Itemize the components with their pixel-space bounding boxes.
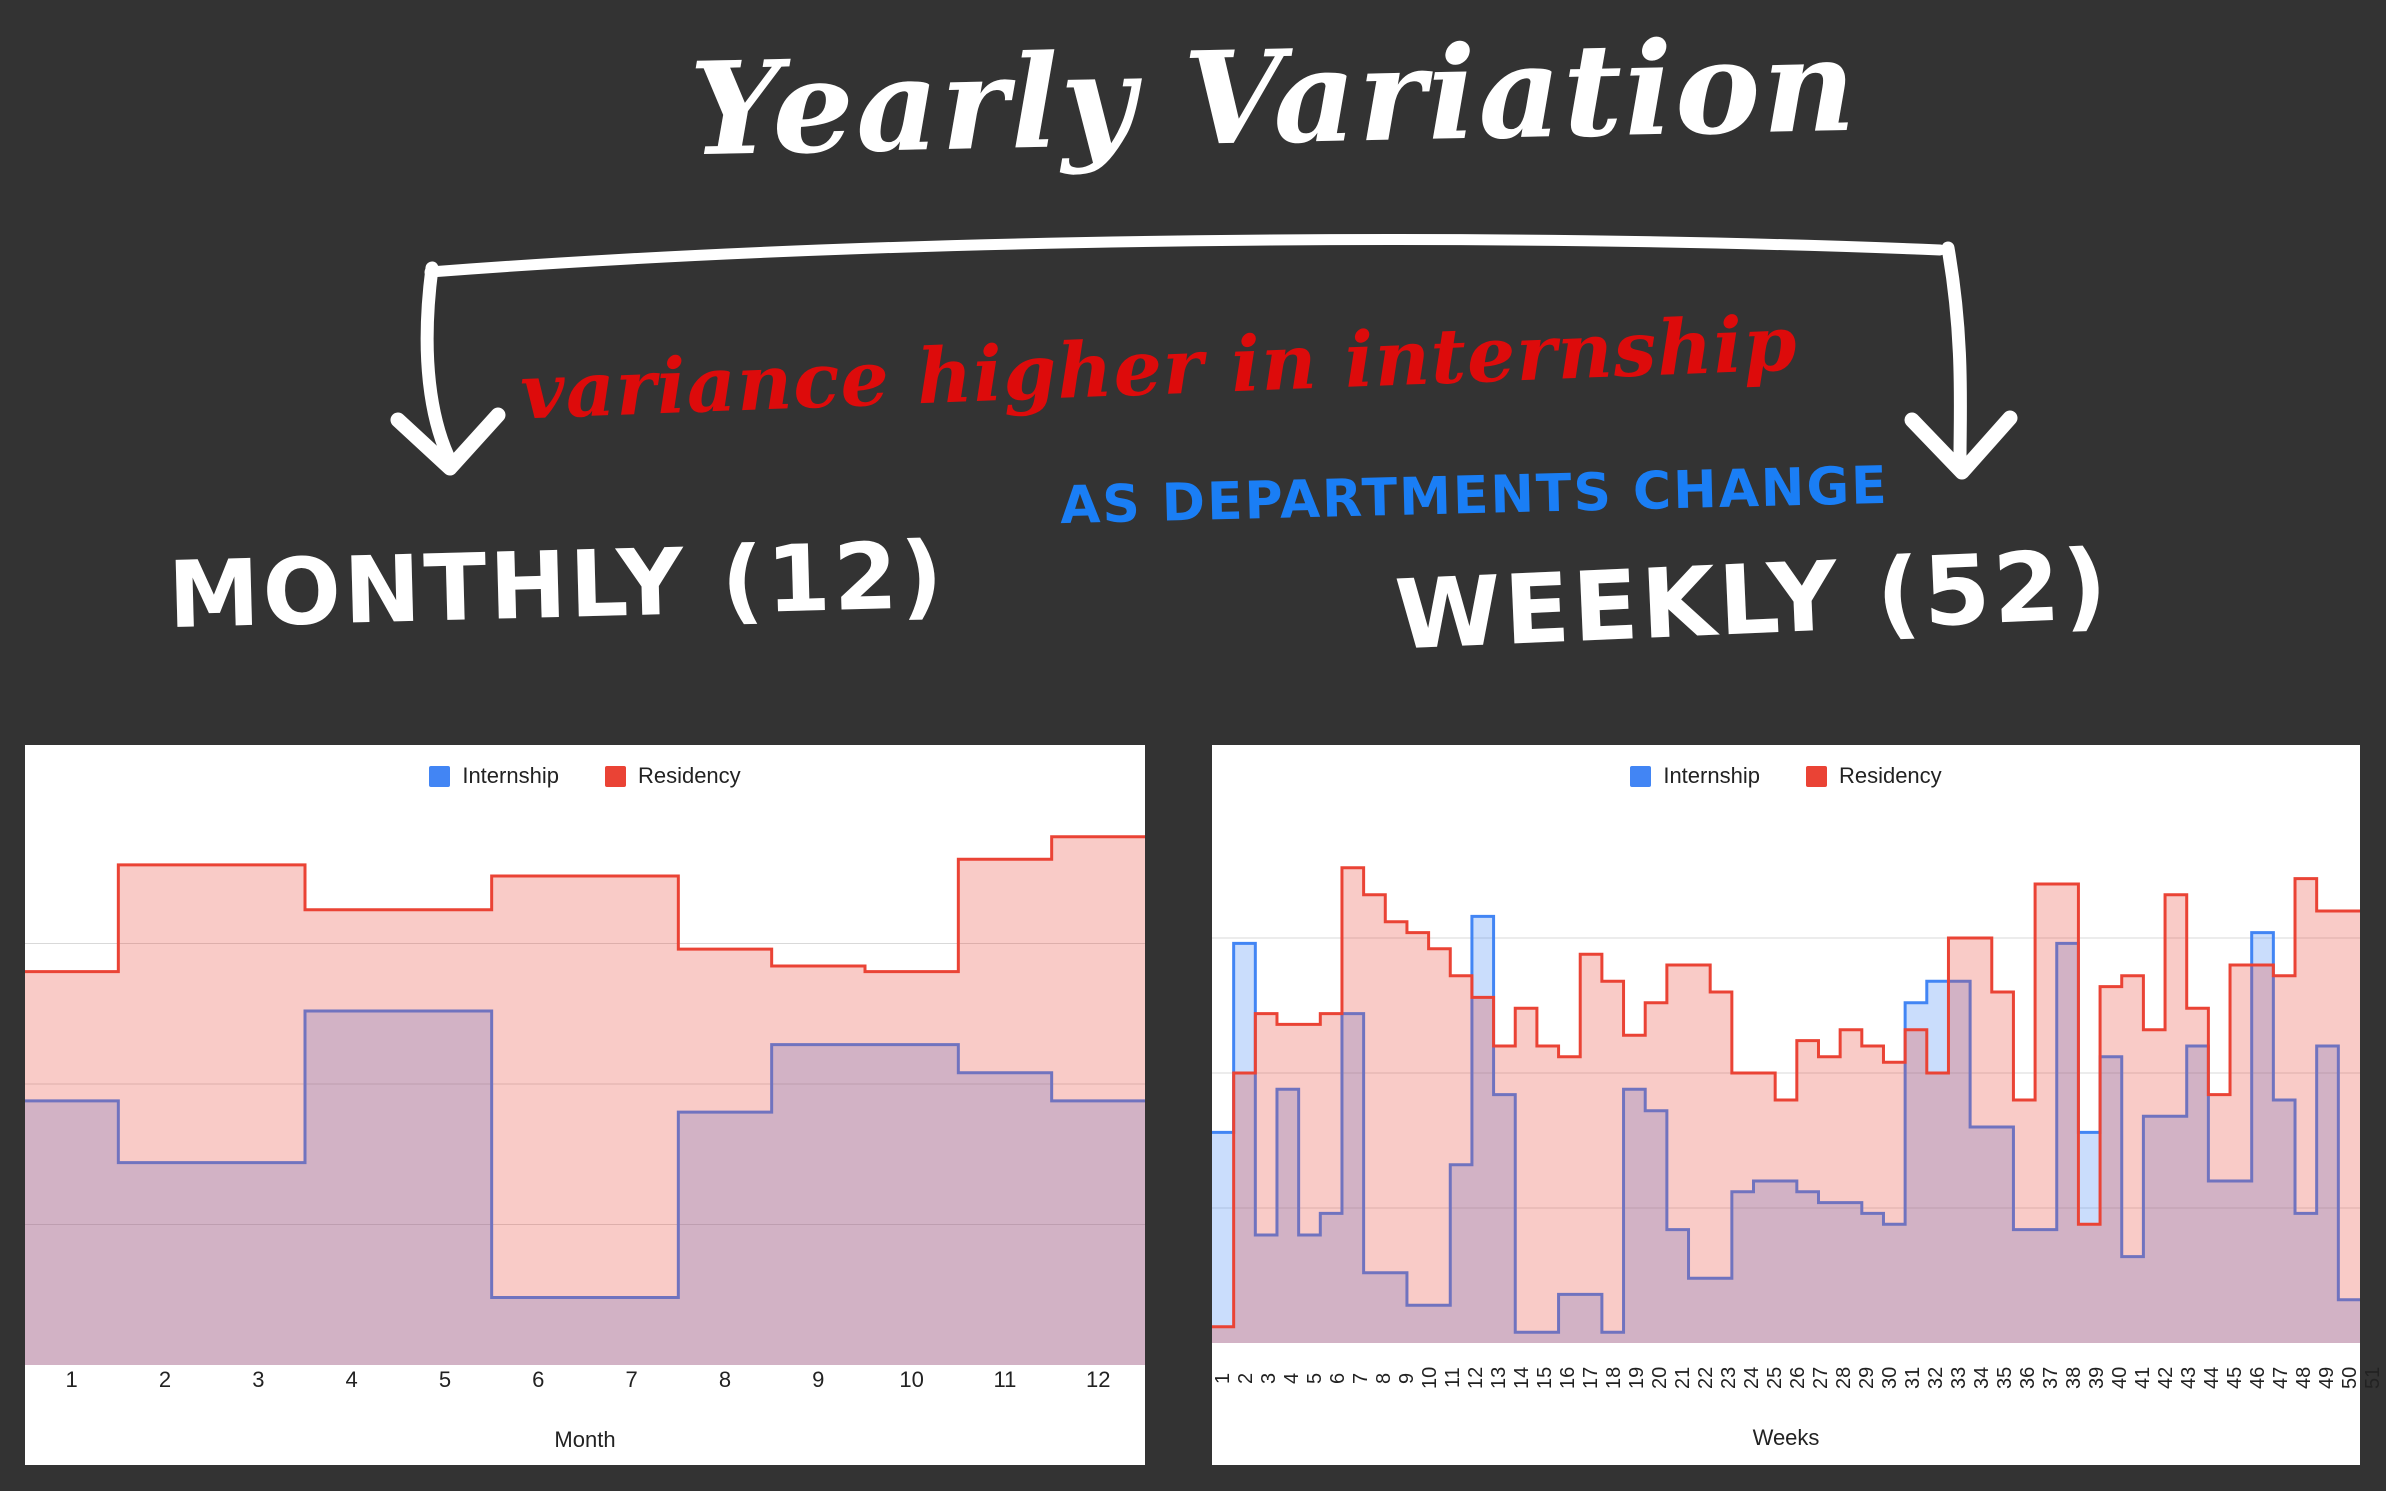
legend-swatch-internship — [429, 766, 450, 787]
axis-tick: 39 — [2086, 1345, 2109, 1411]
axis-tick: 10 — [1419, 1345, 1442, 1411]
axis-tick: 11 — [1442, 1345, 1465, 1411]
weekly-plot-area[interactable] — [1212, 803, 2360, 1343]
annotation-variance-note: variance higher in internship — [519, 306, 1799, 431]
axis-tick: 36 — [2017, 1345, 2040, 1411]
axis-tick: 9 — [772, 1367, 865, 1407]
axis-tick: 28 — [1833, 1345, 1856, 1411]
axis-tick: 21 — [1672, 1345, 1695, 1411]
caption-weekly: WEEKLY (52) — [1393, 536, 2111, 663]
axis-tick: 38 — [2063, 1345, 2086, 1411]
axis-tick: 45 — [2224, 1345, 2247, 1411]
legend-swatch-residency — [605, 766, 626, 787]
axis-tick: 10 — [865, 1367, 958, 1407]
legend-swatch-internship — [1630, 766, 1651, 787]
axis-tick: 46 — [2247, 1345, 2270, 1411]
legend-label-residency: Residency — [638, 763, 741, 789]
board-title: Yearly Variation — [689, 22, 1859, 174]
axis-tick: 7 — [1350, 1345, 1373, 1411]
axis-tick: 16 — [1557, 1345, 1580, 1411]
axis-tick: 48 — [2293, 1345, 2316, 1411]
axis-tick: 4 — [1281, 1345, 1304, 1411]
legend-swatch-residency — [1806, 766, 1827, 787]
axis-tick: 5 — [1304, 1345, 1327, 1411]
axis-tick: 51 — [2362, 1345, 2385, 1411]
axis-tick: 27 — [1810, 1345, 1833, 1411]
axis-tick: 47 — [2270, 1345, 2293, 1411]
axis-tick: 4 — [305, 1367, 398, 1407]
axis-tick: 8 — [1373, 1345, 1396, 1411]
axis-tick: 13 — [1488, 1345, 1511, 1411]
weekly-x-axis-title: Weeks — [1212, 1425, 2360, 1451]
axis-tick: 18 — [1603, 1345, 1626, 1411]
axis-tick: 1 — [1212, 1345, 1235, 1411]
axis-tick: 29 — [1856, 1345, 1879, 1411]
axis-tick: 49 — [2316, 1345, 2339, 1411]
legend-item-residency[interactable]: Residency — [605, 763, 741, 789]
axis-tick: 25 — [1764, 1345, 1787, 1411]
monthly-x-axis-title: Month — [25, 1427, 1145, 1453]
axis-tick: 30 — [1879, 1345, 1902, 1411]
legend-item-residency[interactable]: Residency — [1806, 763, 1942, 789]
axis-tick: 34 — [1971, 1345, 1994, 1411]
caption-monthly: MONTHLY (12) — [167, 530, 947, 642]
axis-tick: 50 — [2339, 1345, 2362, 1411]
monthly-plot-area[interactable] — [25, 803, 1145, 1365]
monthly-chart-panel: Internship Residency 123456789101112 Mon… — [25, 745, 1145, 1465]
legend-item-internship[interactable]: Internship — [1630, 763, 1760, 789]
axis-tick: 12 — [1465, 1345, 1488, 1411]
legend-label-residency: Residency — [1839, 763, 1942, 789]
axis-tick: 23 — [1718, 1345, 1741, 1411]
axis-tick: 35 — [1994, 1345, 2017, 1411]
monthly-legend: Internship Residency — [25, 763, 1145, 789]
axis-tick: 2 — [118, 1367, 211, 1407]
axis-tick: 22 — [1695, 1345, 1718, 1411]
axis-tick: 6 — [492, 1367, 585, 1407]
axis-tick: 19 — [1626, 1345, 1649, 1411]
weekly-chart-panel: Internship Residency 1234567891011121314… — [1212, 745, 2360, 1465]
axis-tick: 42 — [2155, 1345, 2178, 1411]
legend-label-internship: Internship — [462, 763, 559, 789]
axis-tick: 41 — [2132, 1345, 2155, 1411]
axis-tick: 32 — [1925, 1345, 1948, 1411]
axis-tick: 7 — [585, 1367, 678, 1407]
axis-tick: 44 — [2201, 1345, 2224, 1411]
axis-tick: 31 — [1902, 1345, 1925, 1411]
axis-tick: 11 — [958, 1367, 1051, 1407]
legend-item-internship[interactable]: Internship — [429, 763, 559, 789]
axis-tick: 3 — [212, 1367, 305, 1407]
axis-tick: 6 — [1327, 1345, 1350, 1411]
weekly-legend: Internship Residency — [1212, 763, 2360, 789]
axis-tick: 33 — [1948, 1345, 1971, 1411]
axis-tick: 20 — [1649, 1345, 1672, 1411]
monthly-x-axis: 123456789101112 — [25, 1367, 1145, 1407]
axis-tick: 40 — [2109, 1345, 2132, 1411]
weekly-x-axis: 1234567891011121314151617181920212223242… — [1212, 1345, 2360, 1411]
axis-tick: 14 — [1511, 1345, 1534, 1411]
annotation-departments-note: AS DEPARTMENTS CHANGE — [1059, 460, 1889, 532]
whiteboard-canvas: Yearly Variation variance higher in inte… — [0, 0, 2386, 1491]
axis-tick: 9 — [1396, 1345, 1419, 1411]
axis-tick: 1 — [25, 1367, 118, 1407]
axis-tick: 37 — [2040, 1345, 2063, 1411]
axis-tick: 17 — [1580, 1345, 1603, 1411]
axis-tick: 5 — [398, 1367, 491, 1407]
axis-tick: 15 — [1534, 1345, 1557, 1411]
axis-tick: 12 — [1052, 1367, 1145, 1407]
legend-label-internship: Internship — [1663, 763, 1760, 789]
axis-tick: 43 — [2178, 1345, 2201, 1411]
axis-tick: 2 — [1235, 1345, 1258, 1411]
axis-tick: 24 — [1741, 1345, 1764, 1411]
axis-tick: 26 — [1787, 1345, 1810, 1411]
axis-tick: 3 — [1258, 1345, 1281, 1411]
axis-tick: 8 — [678, 1367, 771, 1407]
